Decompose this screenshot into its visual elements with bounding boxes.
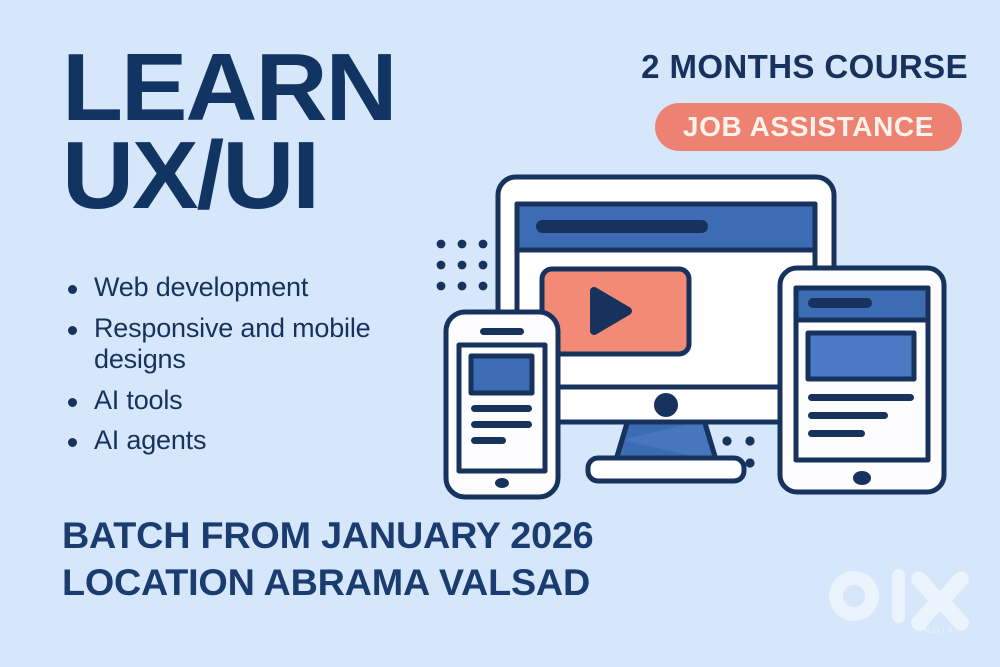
list-item-label: AI tools bbox=[94, 385, 182, 415]
list-item: Responsive and mobile designs bbox=[62, 313, 462, 376]
watermark-sub-label: INDIA bbox=[919, 625, 956, 635]
responsive-devices-illustration bbox=[430, 160, 970, 510]
list-item: AI agents bbox=[62, 425, 462, 457]
page-title: LEARN UX/UI bbox=[62, 44, 482, 221]
list-item-label: AI agents bbox=[94, 425, 206, 455]
headline-line-1: LEARN bbox=[62, 44, 499, 132]
list-item: Web development bbox=[62, 272, 462, 304]
footer-details: BATCH FROM JANUARY 2026 LOCATION ABRAMA … bbox=[62, 512, 583, 607]
tablet bbox=[780, 268, 944, 492]
footer-line-batch: BATCH FROM JANUARY 2026 bbox=[62, 512, 593, 559]
banner-root: LEARN UX/UI Web development Responsive a… bbox=[0, 0, 1000, 667]
list-item-label: Responsive and mobile designs bbox=[94, 313, 370, 375]
course-duration-label: 2 MONTHS COURSE bbox=[641, 48, 968, 86]
olx-watermark: INDIA bbox=[824, 561, 974, 643]
status-badge-job-assistance: JOB ASSISTANCE bbox=[655, 103, 962, 151]
footer-line-location: LOCATION ABRAMA VALSAD bbox=[62, 559, 593, 606]
list-item: AI tools bbox=[62, 385, 462, 417]
mobile-phone bbox=[446, 312, 558, 497]
dot-grid-left bbox=[437, 240, 488, 291]
feature-list: Web development Responsive and mobile de… bbox=[62, 272, 462, 466]
list-item-label: Web development bbox=[94, 272, 308, 302]
